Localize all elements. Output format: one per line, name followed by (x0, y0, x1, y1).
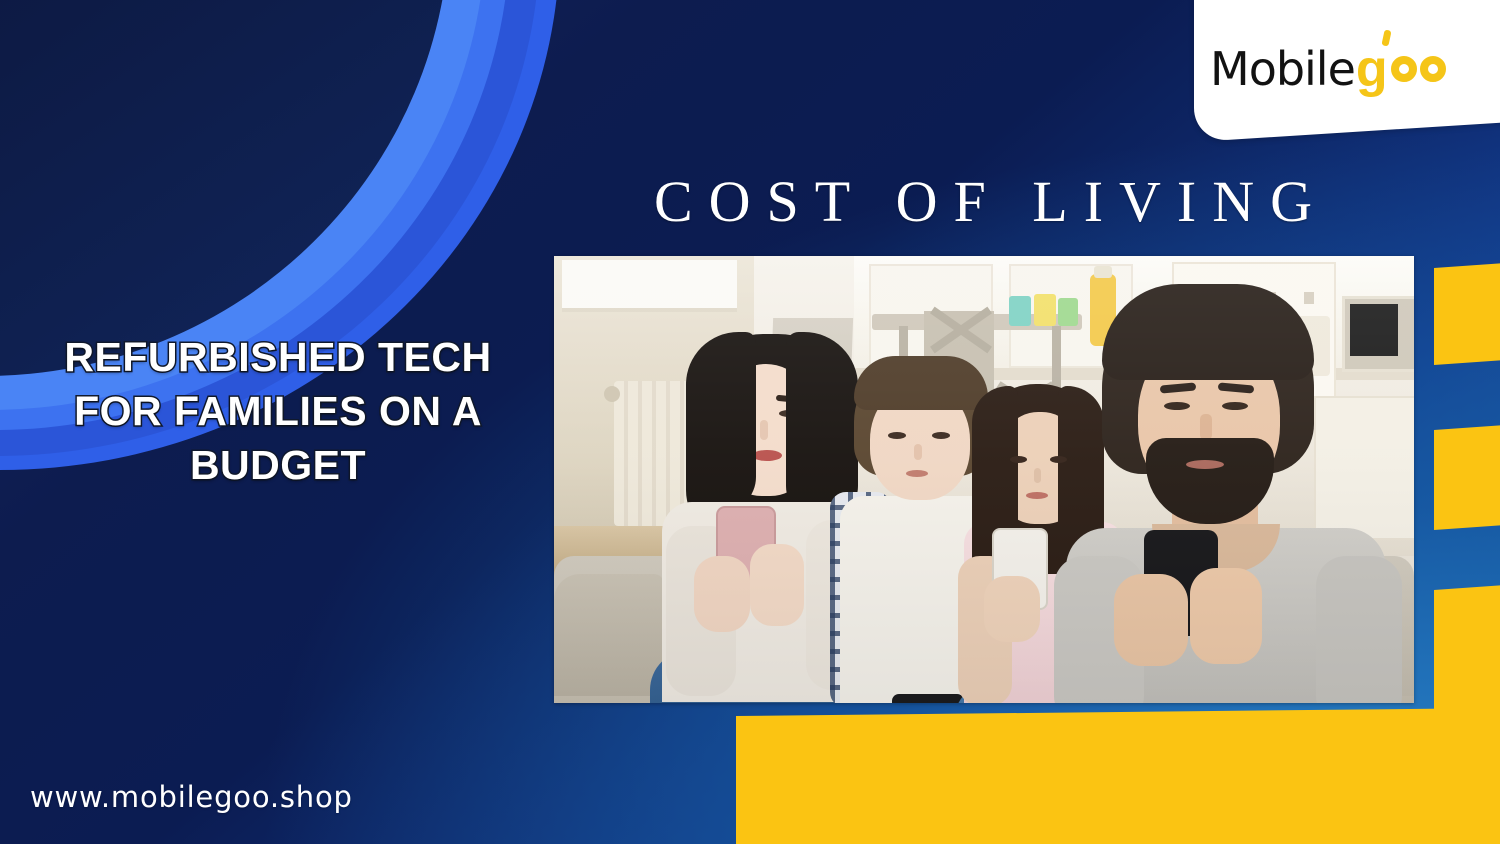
logo-o-icon-2 (1420, 56, 1446, 82)
photo-color-grade (554, 256, 1414, 703)
eyebrow-text: COST OF LIVING (548, 168, 1418, 235)
yellow-bottom-bar (736, 708, 1500, 844)
banner-canvas: Mobileg COST OF LIVING REFURBISHED TECH … (0, 0, 1500, 844)
logo-o-icon-1 (1391, 56, 1417, 82)
logo-wordmark: Mobile (1210, 46, 1355, 92)
yellow-block-1 (1434, 262, 1500, 365)
brand-logo[interactable]: Mobileg (1210, 26, 1500, 112)
headline-line-3: BUDGET (8, 438, 548, 492)
headline-line-1: REFURBISHED TECH (8, 330, 548, 384)
family-photo (554, 256, 1414, 703)
headline-line-2: FOR FAMILIES ON A (8, 384, 548, 438)
page-title: REFURBISHED TECH FOR FAMILIES ON A BUDGE… (8, 330, 548, 492)
site-url[interactable]: www.mobilegoo.shop (30, 780, 353, 814)
logo-g-glyph: g (1356, 43, 1388, 95)
yellow-block-2 (1434, 424, 1500, 530)
logo-g-dot-icon (1381, 29, 1391, 46)
